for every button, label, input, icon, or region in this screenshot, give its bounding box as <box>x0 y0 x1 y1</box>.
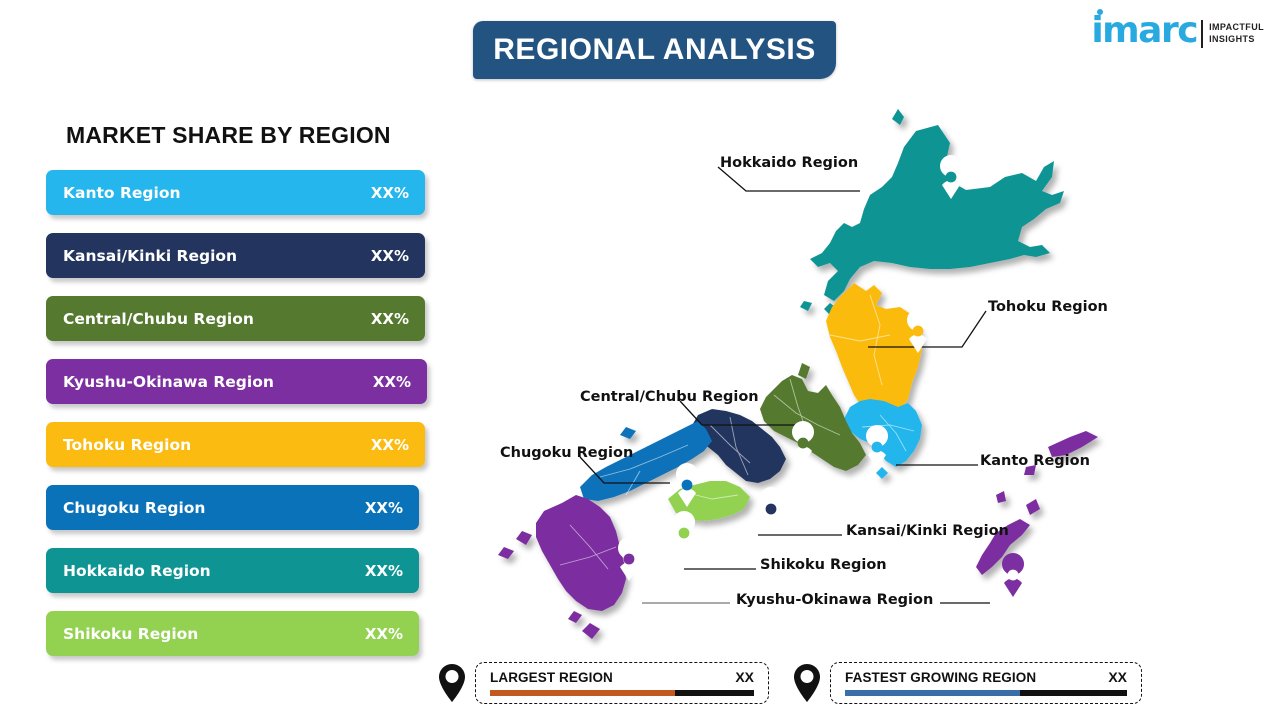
logo-tagline: IMPACTFUL INSIGHTS <box>1209 21 1264 45</box>
largest-region-value: XX <box>735 669 754 685</box>
map-label-hokkaido: Hokkaido Region <box>720 155 858 171</box>
legend-row-value: XX% <box>365 499 403 517</box>
logo-tagline-line2: INSIGHTS <box>1209 33 1264 45</box>
imarc-logo: imarc IMPACTFUL INSIGHTS <box>1091 16 1264 48</box>
market-share-legend-list: Kanto RegionXX%Kansai/Kinki RegionXX%Cen… <box>46 170 446 674</box>
legend-row-value: XX% <box>371 436 409 454</box>
legend-row-label: Chugoku Region <box>63 499 205 517</box>
fastest-region-fill <box>845 690 1020 696</box>
fastest-region-value: XX <box>1108 669 1127 685</box>
region-hokkaido[interactable] <box>810 125 1064 301</box>
largest-region-fill <box>490 690 675 696</box>
fastest-region-track <box>845 690 1127 696</box>
logo-wordmark-wrap: imarc <box>1091 16 1197 46</box>
map-label-chugoku: Chugoku Region <box>500 445 633 461</box>
map-label-tohoku: Tohoku Region <box>988 299 1108 315</box>
legend-row[interactable]: Kanto RegionXX% <box>46 170 425 215</box>
region-kyushu-islet3 <box>582 623 600 639</box>
japan-map: Hokkaido RegionTohoku RegionCentral/Chub… <box>430 95 1270 655</box>
map-label-shikoku: Shikoku Region <box>760 557 887 573</box>
region-chubu-peninsula <box>798 363 810 379</box>
region-kyushu-islet1 <box>516 531 532 545</box>
legend-row-label: Kyushu-Okinawa Region <box>63 373 274 391</box>
legend-row[interactable]: Central/Chubu RegionXX% <box>46 296 425 341</box>
page-title: REGIONAL ANALYSIS <box>493 33 815 67</box>
region-tohoku[interactable] <box>826 283 922 417</box>
region-kyushu-islet4 <box>568 611 582 623</box>
logo-wordmark: imarc <box>1091 16 1197 46</box>
region-kanto-islet <box>876 467 888 479</box>
page-title-banner: REGIONAL ANALYSIS <box>473 21 836 79</box>
legend-row-label: Kansai/Kinki Region <box>63 247 237 265</box>
fastest-growing-region-stat: FASTEST GROWING REGION XX <box>792 661 1142 705</box>
legend-row[interactable]: Shikoku RegionXX% <box>46 611 419 656</box>
region-chugoku-islet <box>620 427 636 439</box>
region-hokkaido-islet <box>892 109 904 125</box>
logo-divider <box>1201 20 1203 48</box>
legend-row-label: Kanto Region <box>63 184 181 202</box>
region-hokkaido-islet3 <box>800 301 812 311</box>
map-label-central-chubu: Central/Chubu Region <box>580 389 759 405</box>
legend-row-value: XX% <box>373 373 411 391</box>
largest-region-label: LARGEST REGION <box>490 670 613 685</box>
legend-row-value: XX% <box>371 184 409 202</box>
legend-row[interactable]: Chugoku RegionXX% <box>46 485 419 530</box>
map-label-kyushu-okinawa: Kyushu-Okinawa Region <box>736 592 933 608</box>
region-kyushu-islet2 <box>498 547 514 559</box>
region-okinawa-islet1 <box>1026 499 1040 515</box>
legend-row-value: XX% <box>365 562 403 580</box>
map-label-kansai-kinki: Kansai/Kinki Region <box>846 523 1009 539</box>
legend-row[interactable]: Tohoku RegionXX% <box>46 422 425 467</box>
legend-row-value: XX% <box>371 247 409 265</box>
legend-row-value: XX% <box>371 310 409 328</box>
legend-row-label: Central/Chubu Region <box>63 310 254 328</box>
legend-row[interactable]: Kansai/Kinki RegionXX% <box>46 233 425 278</box>
largest-region-track <box>490 690 754 696</box>
legend-row-value: XX% <box>365 625 403 643</box>
legend-row-label: Tohoku Region <box>63 436 191 454</box>
legend-row[interactable]: Kyushu-Okinawa RegionXX% <box>46 359 427 404</box>
fastest-region-frame: FASTEST GROWING REGION XX <box>830 662 1142 704</box>
fastest-region-label: FASTEST GROWING REGION <box>845 670 1036 685</box>
region-kyushu[interactable] <box>536 495 626 611</box>
largest-region-frame: LARGEST REGION XX <box>475 662 769 704</box>
legend-row-label: Hokkaido Region <box>63 562 211 580</box>
region-okinawa-islet2 <box>996 491 1006 503</box>
location-pin-icon <box>437 663 467 703</box>
legend-row[interactable]: Hokkaido RegionXX% <box>46 548 419 593</box>
location-pin-icon <box>792 663 822 703</box>
legend-row-label: Shikoku Region <box>63 625 198 643</box>
logo-tagline-line1: IMPACTFUL <box>1209 21 1264 33</box>
map-label-kanto: Kanto Region <box>980 453 1090 469</box>
market-share-heading: MARKET SHARE BY REGION <box>66 122 391 149</box>
largest-region-stat: LARGEST REGION XX <box>437 661 769 705</box>
